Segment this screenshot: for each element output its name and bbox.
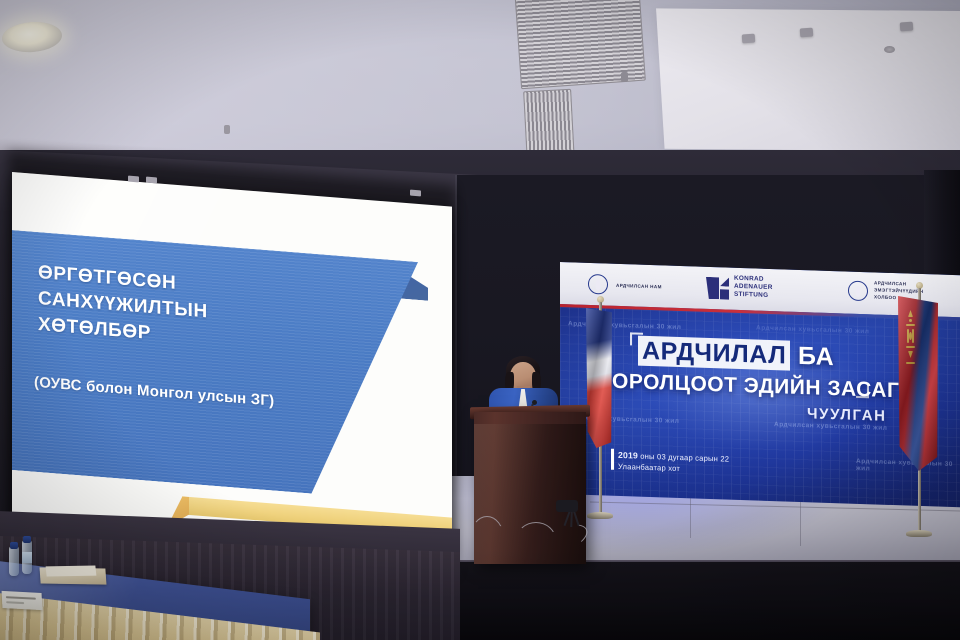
kas-mark-icon (706, 277, 730, 300)
ceiling-downlight-small (884, 46, 895, 53)
banner-headline-highlight: АРДЧИЛАЛ (638, 336, 790, 371)
banner-date-year: 2019 (618, 450, 638, 461)
banner-headline-rest: БА (798, 342, 834, 371)
water-bottle-cap (10, 542, 18, 549)
water-bottle-cap (23, 536, 31, 543)
documents-on-table (46, 566, 97, 577)
screen-mount-clip (410, 190, 421, 197)
screen-mount-clip (146, 177, 157, 184)
flag-stand (587, 512, 613, 519)
screen-mount-clip (128, 176, 139, 183)
water-bottle-label (22, 552, 32, 563)
ceiling-light-nub (800, 28, 814, 38)
stage-front-panel (430, 562, 960, 640)
flag-stand (906, 530, 932, 537)
conference-hall-photo: АРДЧИЛСАН НАМ KONRAD ADENAUER STIFTUNG А… (0, 0, 960, 640)
banner-headline-3: ЧУУЛГАН (807, 405, 887, 425)
projection-screen: ӨРГӨТГӨСӨН САНХҮҮЖИЛТЫН ХӨТӨЛБӨР (ОУВС б… (12, 172, 452, 569)
ceiling-light-nub (742, 34, 756, 44)
ceiling-sprinkler-icon (224, 125, 230, 134)
water-bottle (9, 546, 19, 576)
party-crest-icon (588, 274, 608, 295)
party-flag (586, 308, 612, 448)
banner-logo-label-wu-1: АРДЧИЛСАН (874, 280, 907, 287)
ceiling-sprinkler-icon (621, 72, 628, 82)
banner-date-bar (611, 449, 614, 470)
nameplate (2, 591, 43, 610)
banner-logo-label-wu-3: ХОЛБОО (874, 294, 896, 301)
stage-equipment-box (556, 500, 578, 512)
womens-union-crest-icon (848, 281, 868, 302)
kas-logo-line-3: STIFTUNG (734, 291, 768, 300)
banner-date-block: 2019 оны 03 дугаар сарын 22 Улаанбаатар … (618, 450, 729, 476)
mongolia-flag (898, 296, 938, 471)
microphone-icon (532, 400, 537, 405)
ceiling-light-nub (900, 22, 914, 32)
